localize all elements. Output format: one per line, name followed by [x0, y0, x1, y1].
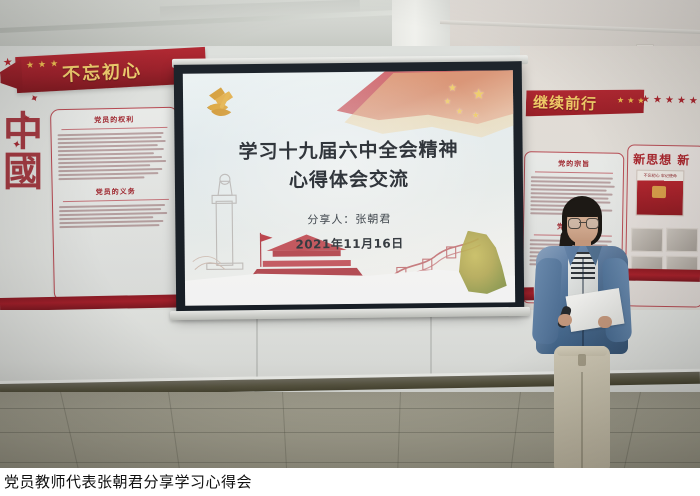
arm-left — [532, 257, 562, 344]
caption-text: 党员教师代表张朝君分享学习心得会 — [0, 468, 700, 492]
slide-title-line2: 心得体会交流 — [184, 163, 514, 193]
bangs — [564, 200, 601, 217]
hand-right — [598, 316, 612, 328]
photo-caption: 党员教师代表张朝君分享学习心得会 — [0, 468, 700, 496]
hand-left — [558, 314, 572, 326]
presenter-person — [524, 196, 640, 480]
panel-title-duties: 党员的义务 — [53, 186, 179, 199]
wall-calligraphy: 中國 — [0, 110, 42, 250]
presentation-slide: ★ ★ ★ ★ ★ — [183, 70, 515, 305]
board-title: 新思想 新 — [628, 145, 700, 168]
left-banner-stars: ★★★ — [26, 59, 63, 71]
ceiling-beam-column — [392, 0, 450, 52]
photo-screenshot: ★★ ★★★ 不忘初心 中國 ✦ ✦ ✦ 党员的权利 党员的义务 继续前行 ★★… — [0, 0, 700, 496]
board-photo — [666, 228, 698, 253]
drawstring — [578, 354, 586, 366]
right-wall-stars: ★★★★★ — [641, 94, 700, 107]
slide-title-line1: 学习十九届六中全会精神 — [183, 134, 513, 164]
panel-rule — [61, 127, 167, 130]
left-info-panel: 党员的权利 党员的义务 — [50, 107, 182, 302]
mini-poster-caption: 不忘初心 牢记使命 — [637, 171, 683, 180]
panel-rule — [535, 171, 613, 173]
panel-title-rights: 党员的权利 — [51, 114, 177, 127]
panel-title-purpose: 党的宗旨 — [525, 158, 623, 170]
panel-rule — [63, 199, 169, 202]
poster-emblem-icon — [652, 186, 666, 198]
slide-date: 2021年11月16日 — [185, 233, 515, 253]
meeting-room-scene: ★★ ★★★ 不忘初心 中國 ✦ ✦ ✦ 党员的权利 党员的义务 继续前行 ★★… — [0, 0, 700, 496]
glasses-icon — [568, 218, 597, 227]
